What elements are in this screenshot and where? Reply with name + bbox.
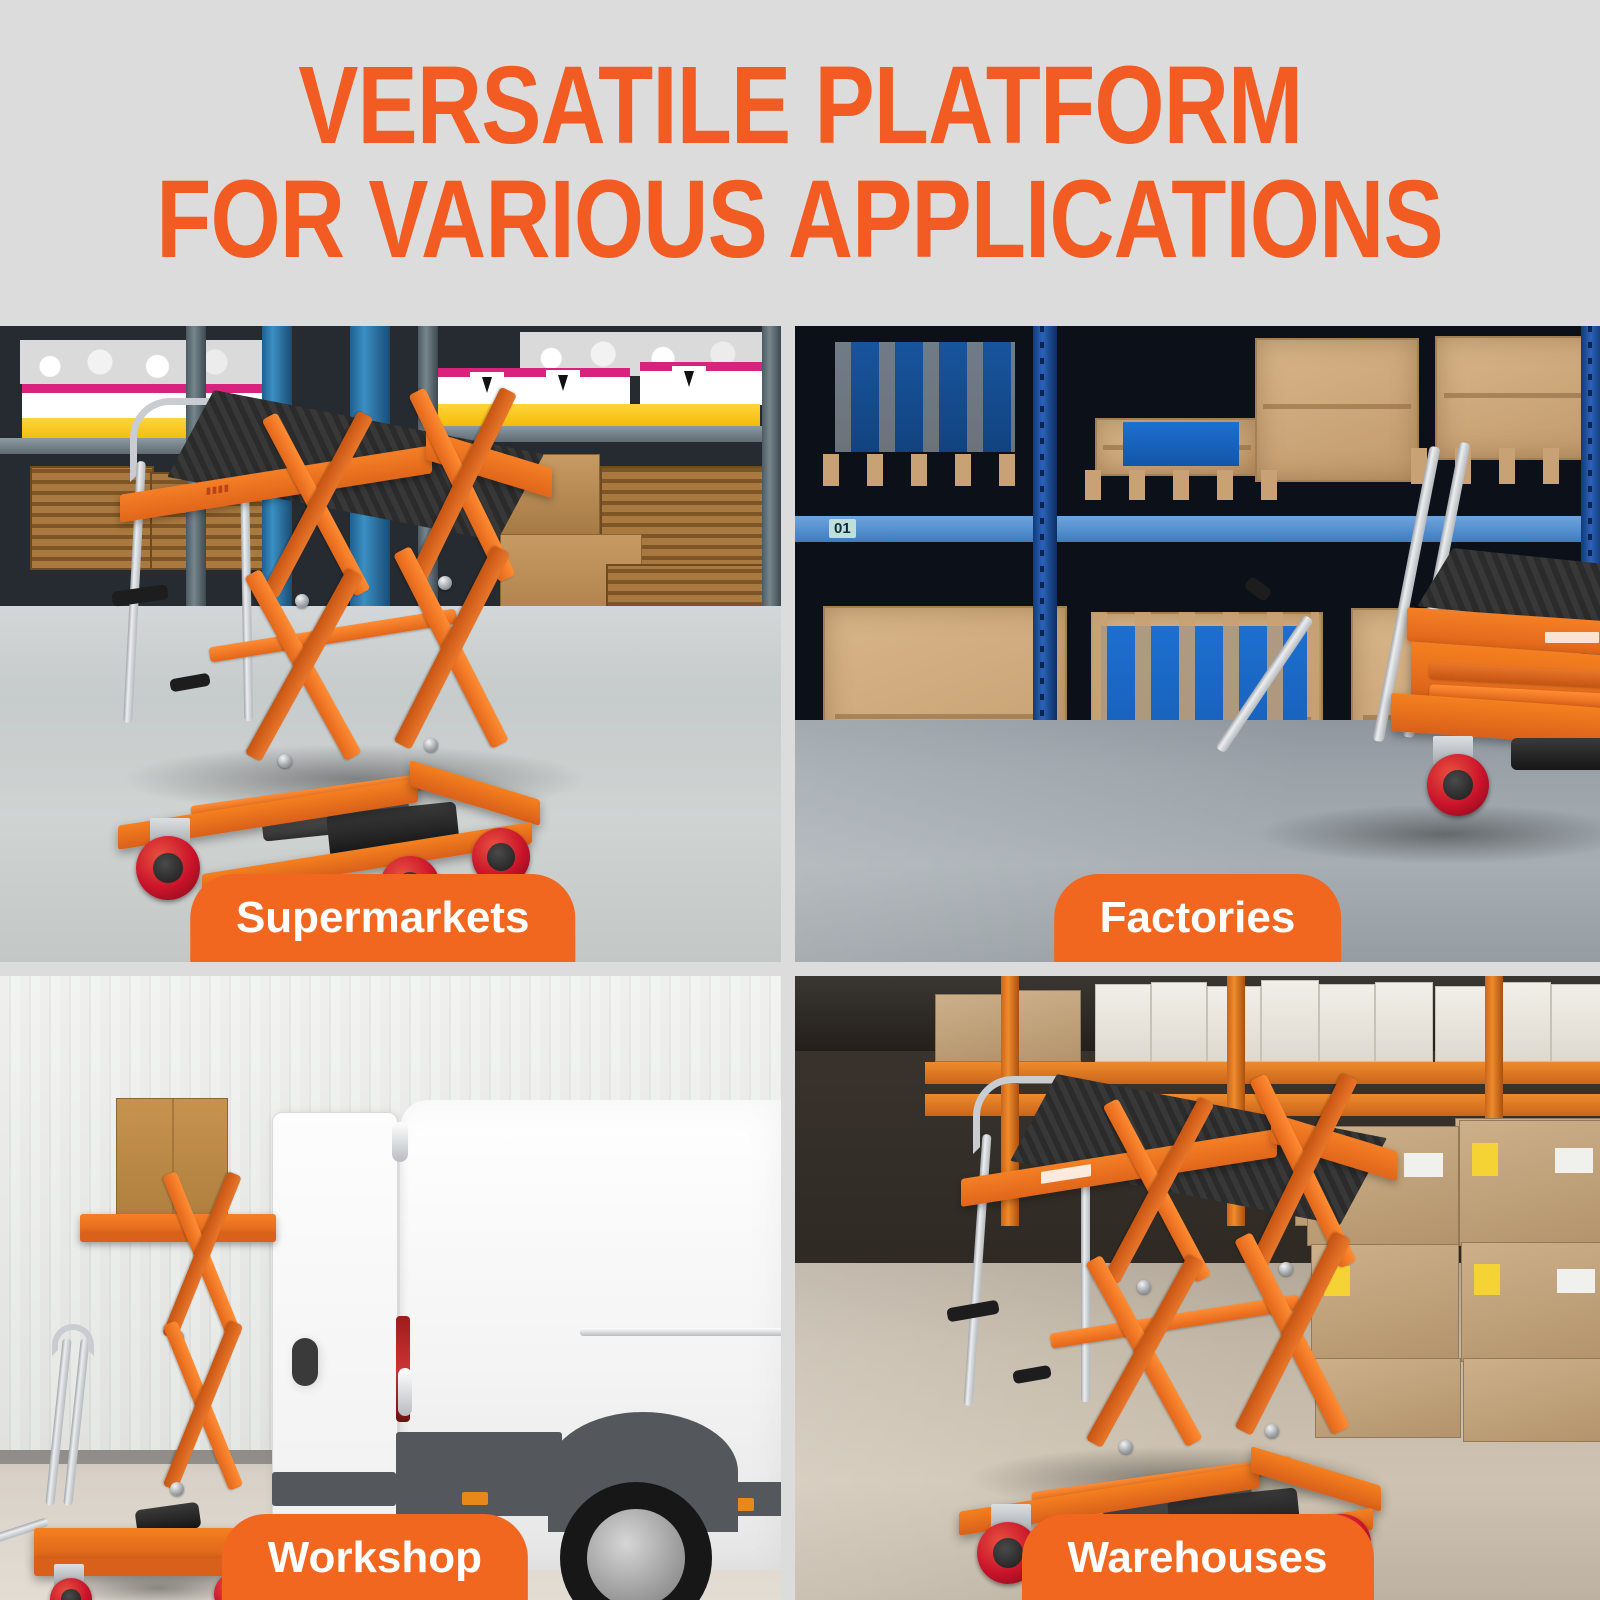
archive-box — [1551, 984, 1600, 1062]
handle-release-grip — [169, 673, 211, 693]
header-banner: VERSATILE PLATFORM FOR VARIOUS APPLICATI… — [0, 0, 1600, 326]
panel-label-workshop: Workshop — [222, 1514, 528, 1600]
door-hinge-chrome — [392, 1122, 408, 1162]
door-handle-chrome — [398, 1368, 412, 1416]
shipping-label — [1557, 1269, 1595, 1293]
scissor-lift-cart — [1215, 496, 1600, 796]
hydraulic-pump — [1511, 738, 1600, 770]
panel-factories[interactable]: 01 — [795, 326, 1600, 962]
rack-location-code: 01 — [829, 519, 856, 538]
archive-box — [1435, 986, 1491, 1062]
panel-label-warehouses: Warehouses — [1021, 1514, 1373, 1600]
handling-arrow-label — [672, 366, 706, 396]
handle-loop-end — [52, 1324, 94, 1356]
handle-grip-end — [1243, 576, 1272, 603]
scissor-pivot-lower-rear — [1265, 1424, 1279, 1438]
capacity-label — [1545, 632, 1599, 643]
scissor-lift-cart: ▮▮▮▮ — [90, 356, 650, 836]
scene-supermarket-warehouse: ▮▮▮▮ — [0, 326, 781, 962]
rack-upright — [762, 326, 781, 619]
scene-factory-racking: 01 — [795, 326, 1600, 962]
scene-van-loading: Workshop — [0, 976, 781, 1600]
wrapped-goods-blue — [1123, 422, 1239, 466]
shipping-label — [1555, 1148, 1593, 1173]
van-side-moulding — [580, 1328, 781, 1336]
pallet-slats — [823, 454, 1043, 486]
page-title-line2: FOR VARIOUS APPLICATIONS — [157, 164, 1444, 276]
page-title-line1: VERSATILE PLATFORM — [298, 50, 1302, 162]
scissor-pivot-upper — [1137, 1280, 1151, 1294]
shelf-price-label — [640, 362, 780, 405]
panel-supermarkets[interactable]: ▮▮▮▮ — [0, 326, 781, 962]
scissor-pivot-lower — [170, 1482, 184, 1496]
wooden-crate-top — [1255, 338, 1419, 482]
archive-box — [1151, 982, 1207, 1062]
wooden-crate-top — [1435, 336, 1600, 460]
archive-box — [1261, 980, 1319, 1062]
panel-workshop[interactable]: Workshop — [0, 976, 781, 1600]
scissor-pivot-lower — [1119, 1440, 1133, 1454]
caster-wheel-front — [1427, 754, 1489, 816]
panel-grid: ▮▮▮▮ — [0, 326, 1600, 1600]
scissor-pivot-upper — [295, 594, 309, 608]
scissor-pivot-lower-rear — [424, 738, 438, 752]
rack-upright-blue — [1033, 326, 1057, 720]
handle-release-grip — [111, 584, 169, 607]
panel-label-supermarkets: Supermarkets — [190, 874, 575, 962]
archive-box — [1319, 984, 1375, 1062]
scissor-pivot-upper-rear — [1279, 1262, 1293, 1276]
panel-label-factories: Factories — [1054, 874, 1342, 962]
handle-release-grip — [1012, 1365, 1052, 1384]
archive-box — [1095, 984, 1151, 1062]
panel-warehouses[interactable]: Warehouses — [795, 976, 1600, 1600]
crate-slats — [835, 342, 1015, 452]
scene-warehouse-aisle: Warehouses — [795, 976, 1600, 1600]
scissor-lift-cart — [925, 1056, 1485, 1536]
folded-handle-arm — [1215, 615, 1314, 754]
marketing-infographic: VERSATILE PLATFORM FOR VARIOUS APPLICATI… — [0, 0, 1600, 1600]
van-reflector — [462, 1492, 488, 1505]
archive-box — [1375, 982, 1433, 1062]
scissor-pivot-upper-rear — [438, 576, 452, 590]
caster-wheel-front-left — [136, 836, 200, 900]
kraft-carton — [935, 994, 1007, 1062]
scissor-pivot-lower — [278, 754, 292, 768]
platform-deck-edge — [80, 1232, 276, 1242]
